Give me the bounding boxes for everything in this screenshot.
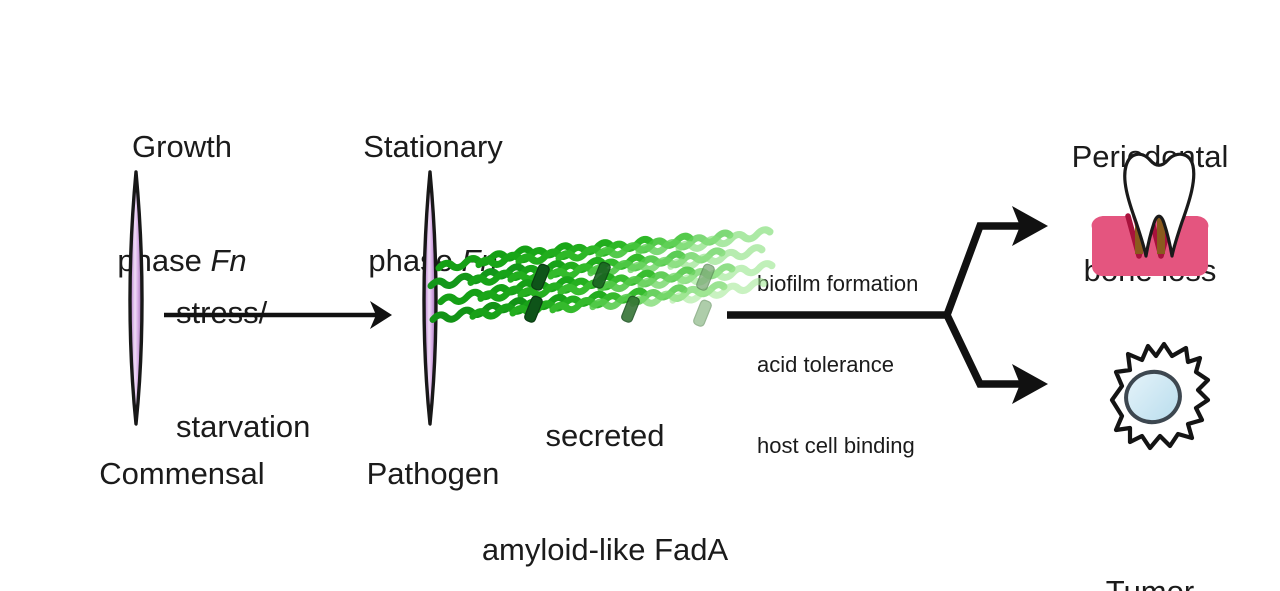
outcome-bottom-label: Tumor progression xyxy=(1035,497,1265,591)
transition-arrow-label: stress/ starvation xyxy=(176,218,416,522)
figure-canvas: Growth phase Fn Stationary phase Fn Comm… xyxy=(0,0,1280,591)
fn-italic: Fn xyxy=(461,243,497,278)
effects-arrow-label: biofilm formation acid tolerance host ce… xyxy=(757,216,987,513)
cell-nucleus xyxy=(1121,366,1185,428)
amyloid-helix-cylinders xyxy=(523,261,715,327)
outcome-top-label: Periodontal bone loss xyxy=(1035,62,1265,366)
amyloid-caption: secreted amyloid-like FadA xyxy=(455,341,755,591)
